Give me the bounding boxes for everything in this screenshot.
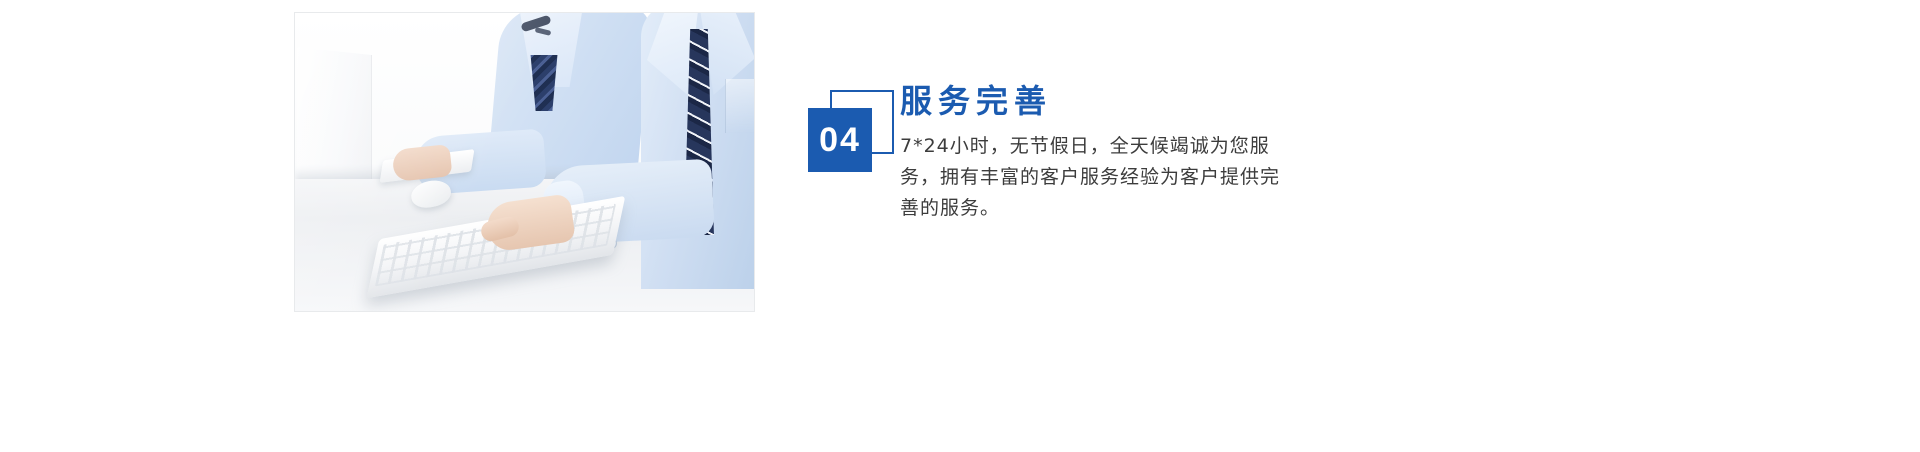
- step-badge-number: 04: [819, 123, 861, 157]
- service-description: 7*24小时，无节假日，全天候竭诚为您服务，拥有丰富的客户服务经验为客户提供完善…: [900, 131, 1295, 223]
- step-badge-fill: 04: [808, 108, 872, 172]
- service-title: 服务完善: [900, 82, 1320, 121]
- photo-canvas: [295, 13, 754, 311]
- service-text-column: 服务完善 7*24小时，无节假日，全天候竭诚为您服务，拥有丰富的客户服务经验为客…: [900, 82, 1320, 223]
- person-back-hand-shape: [391, 144, 452, 182]
- service-photo: [294, 12, 755, 312]
- person-front-pocket-shape: [725, 79, 754, 133]
- service-banner: 04 服务完善 7*24小时，无节假日，全天候竭诚为您服务，拥有丰富的客户服务经…: [0, 0, 1920, 452]
- step-badge: 04: [808, 90, 894, 176]
